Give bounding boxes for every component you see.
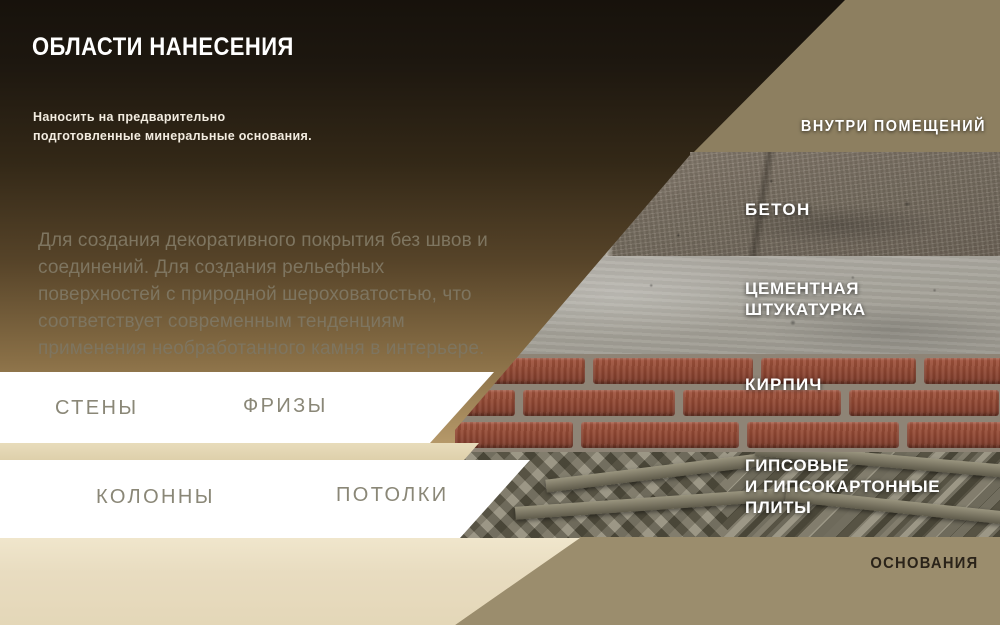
application-area-ceilings: ПОТОЛКИ [336,484,449,507]
application-area-friezes: ФРИЗЫ [243,395,328,418]
substrate-label-cement: ЦЕМЕНТНАЯ ШТУКАТУРКА [745,278,866,320]
slide-canvas: ОБЛАСТИ НАНЕСЕНИЯ Наносить на предварите… [0,0,1000,625]
substrate-label-gypsum: ГИПСОВЫЕ И ГИПСОКАРТОННЫЕ ПЛИТЫ [745,455,940,518]
page-title: ОБЛАСТИ НАНЕСЕНИЯ [32,33,294,62]
application-area-columns: КОЛОННЫ [96,486,215,509]
instruction-text: Наносить на предварительно подготовленны… [33,108,333,146]
substrate-label-concrete: БЕТОН [745,199,811,220]
substrate-photo-brick [455,354,1000,452]
photo-panel-top-label: ВНУТРИ ПОМЕЩЕНИЙ [801,117,986,136]
description-text: Для создания декоративного покрытия без … [38,228,488,363]
application-area-walls: СТЕНЫ [55,397,138,420]
substrate-label-brick: КИРПИЧ [745,374,823,395]
photo-panel-bottom-label: ОСНОВАНИЯ [870,554,978,574]
